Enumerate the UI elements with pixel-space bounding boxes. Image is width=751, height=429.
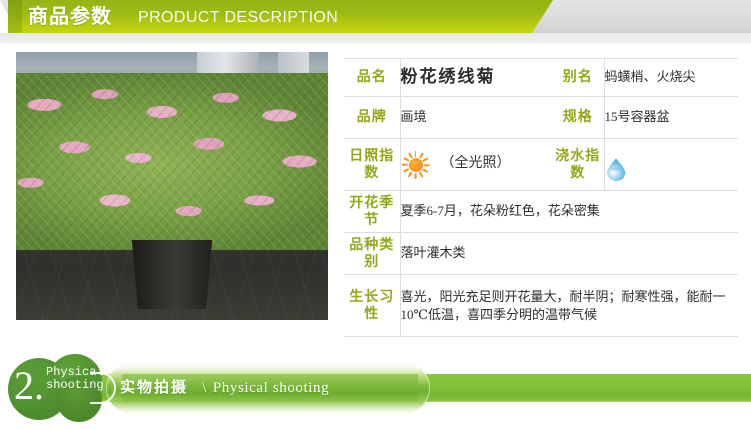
spec-label: 生长习性: [344, 275, 400, 337]
section-number-badge: 2. Physical shooting: [6, 352, 122, 429]
footer-label-cn: 实物拍摄: [120, 380, 188, 396]
spec-label: 品牌: [344, 97, 400, 139]
badge-tail-arc: [90, 372, 116, 404]
badge-number: 2.: [14, 366, 44, 406]
header-green-left-cap: [8, 0, 22, 33]
spec-label: 浇水指数: [552, 139, 604, 191]
table-row: 日照指数 （全光照）: [344, 139, 738, 191]
footer-label-en: Physical shooting: [213, 380, 329, 396]
spec-value: 粉花绣线菊: [400, 59, 552, 97]
sunlight-text: （全光照）: [441, 154, 511, 174]
spec-value: 蚂蟥梢、火烧尖: [604, 59, 738, 97]
table-row: 开花季节 夏季6-7月，花朵粉红色，花朵密集: [344, 191, 738, 233]
footer-pill-text: 实物拍摄\Physical shooting: [120, 374, 329, 402]
spec-value-watering: [604, 139, 738, 191]
spec-value: 夏季6-7月，花朵粉红色，花朵密集: [400, 191, 738, 233]
page-title: 商品参数: [28, 1, 112, 32]
sun-icon: [401, 150, 431, 180]
spec-label: 日照指数: [344, 139, 400, 191]
table-row: 品种类别 落叶灌木类: [344, 233, 738, 275]
sun-core: [409, 158, 423, 172]
spec-label: 规格: [552, 97, 604, 139]
photo-shrub-region: [16, 73, 328, 250]
spec-label: 品名: [344, 59, 400, 97]
footer-separator: \: [188, 380, 213, 396]
header-under-bar: [0, 33, 751, 44]
product-photo: [16, 52, 328, 320]
spec-label: 别名: [552, 59, 604, 97]
page-subtitle: PRODUCT DESCRIPTION: [138, 3, 338, 32]
photo-pot-region: [128, 240, 215, 310]
spec-label: 品种类别: [344, 233, 400, 275]
spec-value: 喜光，阳光充足则开花量大，耐半阴；耐寒性强，能耐一10℃低温，喜四季分明的温带气…: [400, 275, 738, 337]
spec-value: 画境: [400, 97, 552, 139]
table-row: 品牌 画境 规格 15号容器盆: [344, 97, 738, 139]
section-footer: 实物拍摄\Physical shooting 2. Physical shoot…: [0, 352, 751, 429]
spec-value-sunlight: （全光照）: [400, 139, 552, 191]
table-row: 品名 粉花绣线菊 别名 蚂蟥梢、火烧尖: [344, 59, 738, 97]
spec-table: 品名 粉花绣线菊 别名 蚂蟥梢、火烧尖 品牌 画境 规格 15号容器盆 日照指数: [344, 58, 738, 337]
spec-value: 15号容器盆: [604, 97, 738, 139]
spec-value: 落叶灌木类: [400, 233, 738, 275]
page-header: 商品参数 PRODUCT DESCRIPTION: [0, 0, 751, 44]
spec-label: 开花季节: [344, 191, 400, 233]
product-description-page: 商品参数 PRODUCT DESCRIPTION 品名 粉花绣线菊 别名 蚂蟥梢…: [0, 0, 751, 429]
table-row: 生长习性 喜光，阳光充足则开花量大，耐半阴；耐寒性强，能耐一10℃低温，喜四季分…: [344, 275, 738, 337]
